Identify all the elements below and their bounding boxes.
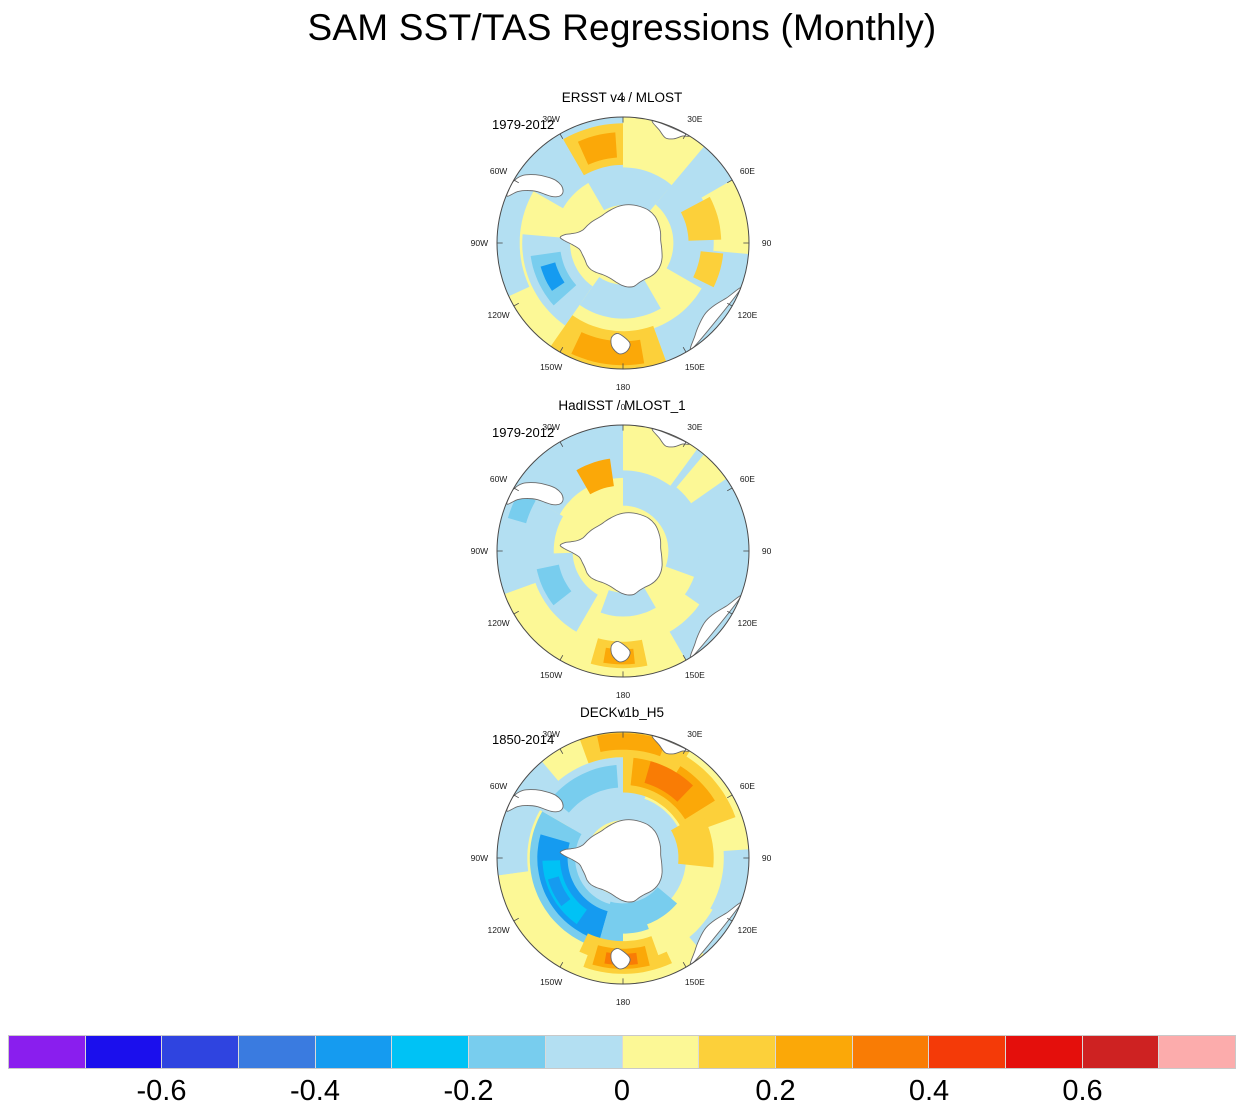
lon-label-90W: 90W [471,238,488,248]
lon-label-120W: 120W [487,618,509,628]
colorbar-bin-4 [316,1036,393,1068]
lon-label-120W: 120W [487,310,509,320]
lon-label-120E: 120E [737,925,757,935]
lon-label-180: 180 [616,382,630,392]
lon-label-0: 0 [621,709,626,719]
lon-label-30E: 30E [687,422,702,432]
colorbar-bin-6 [469,1036,546,1068]
colorbar-bin-7 [546,1036,623,1068]
lon-label-90: 90 [762,238,771,248]
lon-label-0: 0 [621,94,626,104]
colorbar-bin-11 [853,1036,930,1068]
lon-label-60W: 60W [490,781,507,791]
lon-label-90W: 90W [471,853,488,863]
lon-label-60E: 60E [740,474,755,484]
colorbar-tick-labels: -0.6-0.4-0.200.20.40.6 [8,1072,1236,1114]
lon-label-90: 90 [762,546,771,556]
lon-label-60E: 60E [740,781,755,791]
colorbar-bin-8 [623,1036,700,1068]
colorbar-tick--0.6: -0.6 [137,1072,187,1110]
lon-label-60E: 60E [740,166,755,176]
lon-label-120E: 120E [737,310,757,320]
colorbar-tick-0: 0 [614,1072,630,1110]
colorbar-tick-0.2: 0.2 [755,1072,795,1110]
lon-label-180: 180 [616,690,630,700]
lon-label-150E: 150E [685,362,705,372]
lon-label-90W: 90W [471,546,488,556]
lon-label-90: 90 [762,853,771,863]
colorbar-bin-1 [86,1036,163,1068]
polar-map [467,87,779,399]
colorbar-bin-0 [9,1036,86,1068]
colorbar-tick--0.2: -0.2 [444,1072,494,1110]
colorbar[interactable] [8,1035,1236,1069]
colorbar-bin-14 [1083,1036,1160,1068]
lon-label-150E: 150E [685,670,705,680]
colorbar-tick-0.6: 0.6 [1062,1072,1102,1110]
colorbar-tick--0.4: -0.4 [290,1072,340,1110]
lon-label-180: 180 [616,997,630,1007]
lon-label-60W: 60W [490,474,507,484]
lon-label-150W: 150W [540,670,562,680]
colorbar-bin-2 [162,1036,239,1068]
lon-label-150W: 150W [540,362,562,372]
lon-label-30E: 30E [687,729,702,739]
figure-title: SAM SST/TAS Regressions (Monthly) [0,6,1244,50]
colorbar-tick-0.4: 0.4 [909,1072,949,1110]
lon-label-0: 0 [621,402,626,412]
lon-label-30W: 30W [542,114,559,124]
colorbar-bin-9 [699,1036,776,1068]
lon-label-150E: 150E [685,977,705,987]
colorbar-bin-15 [1159,1036,1235,1068]
figure-canvas: SAM SST/TAS Regressions (Monthly) ERSST … [0,0,1244,1116]
colorbar-bin-13 [1006,1036,1083,1068]
lon-label-120W: 120W [487,925,509,935]
polar-map [467,395,779,707]
colorbar-bin-10 [776,1036,853,1068]
lon-label-30W: 30W [542,729,559,739]
lon-label-30W: 30W [542,422,559,432]
colorbar-bin-5 [392,1036,469,1068]
lon-label-150W: 150W [540,977,562,987]
lon-label-120E: 120E [737,618,757,628]
polar-map [467,702,779,1014]
colorbar-bin-12 [929,1036,1006,1068]
lon-label-30E: 30E [687,114,702,124]
lon-label-60W: 60W [490,166,507,176]
colorbar-bin-3 [239,1036,316,1068]
